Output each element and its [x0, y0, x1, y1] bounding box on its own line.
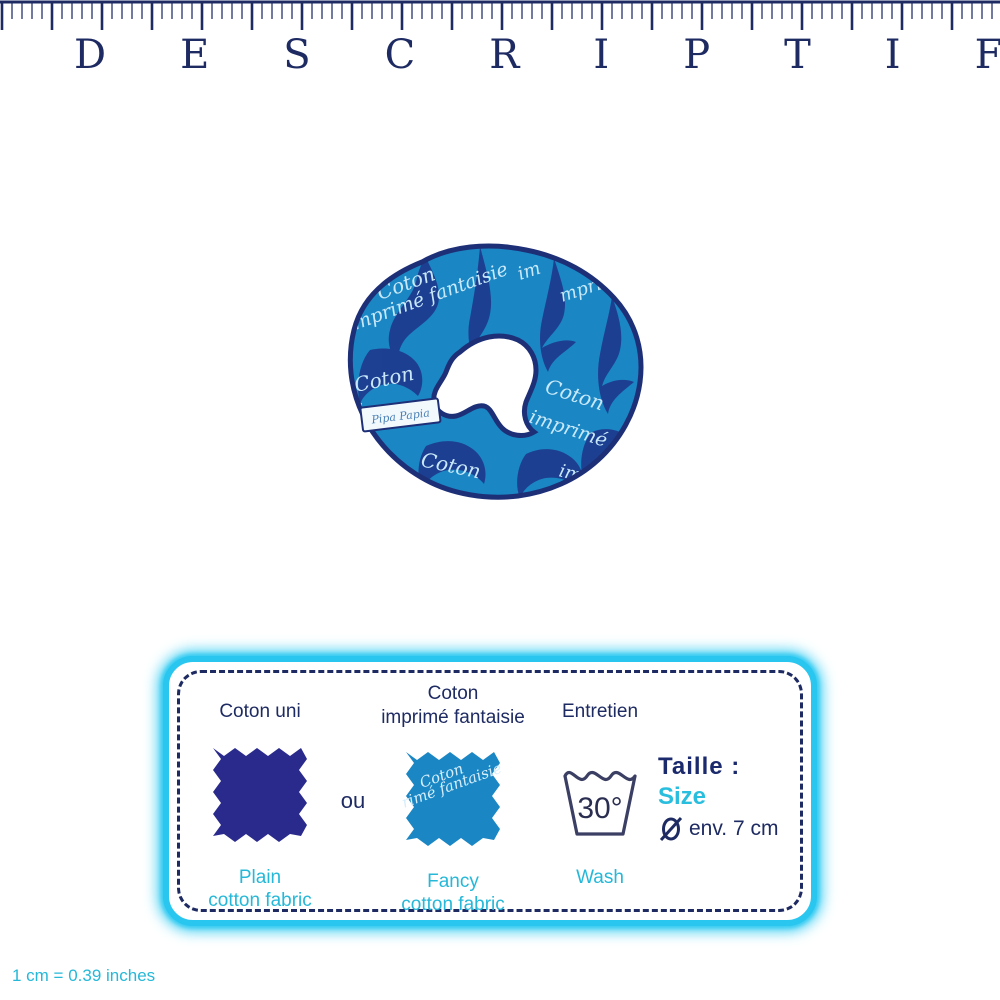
column-plain-cotton-title: Coton uni: [190, 700, 330, 724]
size-label-en: Size: [658, 782, 808, 812]
diameter-symbol-icon: [658, 815, 684, 843]
column-fancy-cotton-title: Coton imprimé fantaisie: [373, 682, 533, 730]
plain-fabric-swatch: [207, 742, 313, 848]
size-block: Taille : Size env. 7 cm: [658, 752, 808, 843]
wash-temperature-label: 30°: [577, 792, 622, 825]
column-fancy-cotton-caption: Fancy cotton fabric: [373, 870, 533, 916]
scrunchie-illustration: Coton imprimé fantaisie im mprim Coton l…: [330, 240, 670, 520]
page-title: DESCRIPTIF: [0, 30, 1000, 80]
wash-tub-30-icon: 30°: [547, 746, 653, 852]
size-value-text: env. 7 cm: [689, 817, 778, 841]
conversion-note: 1 cm = 0.39 inches: [12, 966, 155, 986]
column-care-title: Entretien: [535, 700, 665, 724]
ruler-header: DESCRIPTIF: [0, 0, 1000, 90]
column-care: Entretien 30° Wash: [535, 700, 665, 889]
column-plain-cotton: Coton uni Plain cotton fabric: [190, 700, 330, 912]
fancy-fabric-swatch: Coton rimé fantaisie: [400, 746, 506, 852]
column-care-caption: Wash: [535, 866, 665, 889]
column-fancy-cotton: Coton imprimé fantaisie Coton rimé fanta…: [373, 682, 533, 916]
column-plain-cotton-caption: Plain cotton fabric: [190, 866, 330, 912]
size-value-row: env. 7 cm: [658, 815, 808, 843]
ruler-icon: [0, 0, 1000, 30]
size-label-fr: Taille :: [658, 752, 808, 782]
